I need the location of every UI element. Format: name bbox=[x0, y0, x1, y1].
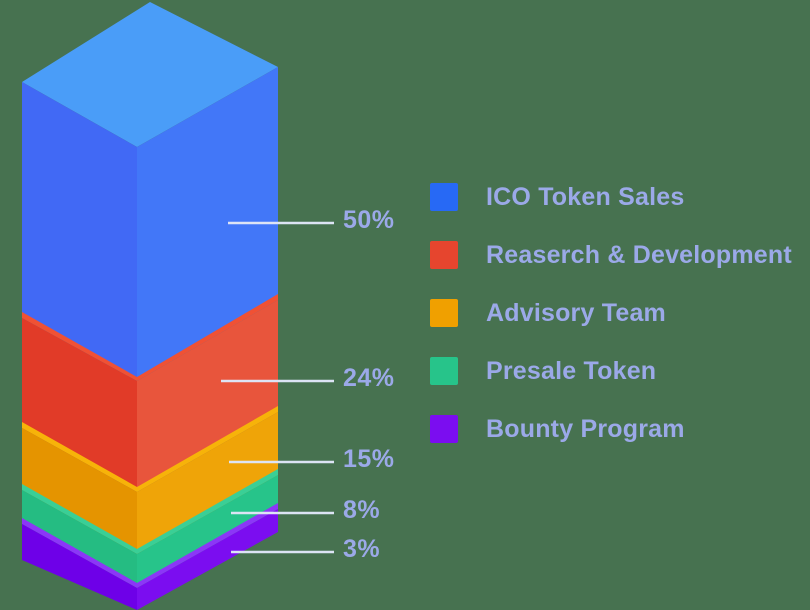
legend-swatch-advisory-team bbox=[430, 299, 458, 327]
legend-label-research-development: Reaserch & Development bbox=[486, 241, 792, 270]
callout-24: 24% bbox=[343, 364, 395, 393]
callout-8: 8% bbox=[343, 496, 380, 525]
callout-50: 50% bbox=[343, 206, 395, 235]
stacked-3d-bar-chart: 50% 24% 15% 8% 3% ICO Token Sales Reaser… bbox=[0, 0, 810, 610]
legend-swatch-research-development bbox=[430, 241, 458, 269]
legend-item-advisory-team[interactable]: Advisory Team bbox=[430, 284, 800, 342]
legend-label-advisory-team: Advisory Team bbox=[486, 299, 666, 328]
legend-swatch-presale-token bbox=[430, 357, 458, 385]
legend-swatch-ico-token-sales bbox=[430, 183, 458, 211]
legend-label-bounty-program: Bounty Program bbox=[486, 415, 685, 444]
legend-swatch-bounty-program bbox=[430, 415, 458, 443]
legend-item-bounty-program[interactable]: Bounty Program bbox=[430, 400, 800, 458]
legend-item-ico-token-sales[interactable]: ICO Token Sales bbox=[430, 168, 800, 226]
legend-item-presale-token[interactable]: Presale Token bbox=[430, 342, 800, 400]
callout-15: 15% bbox=[343, 445, 395, 474]
chart-legend: ICO Token Sales Reaserch & Development A… bbox=[430, 168, 800, 458]
legend-label-ico-token-sales: ICO Token Sales bbox=[486, 183, 684, 212]
legend-item-research-development[interactable]: Reaserch & Development bbox=[430, 226, 800, 284]
callout-3: 3% bbox=[343, 535, 380, 564]
legend-label-presale-token: Presale Token bbox=[486, 357, 656, 386]
